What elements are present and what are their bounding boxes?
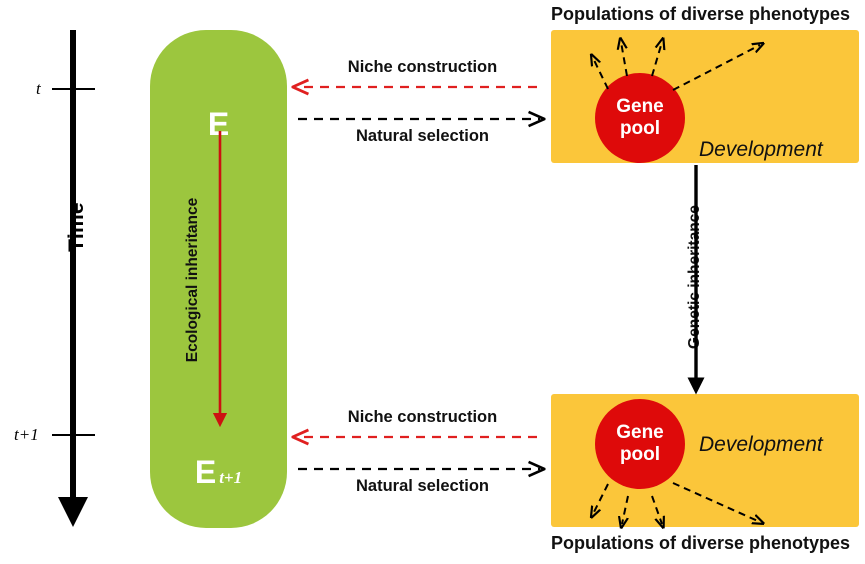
development-box-bottom: Genepool Development — [551, 394, 859, 527]
gene-pool-line2: pool — [620, 118, 660, 139]
time-axis: t t+1 Time — [0, 0, 140, 564]
natural-selection-label-top: Natural selection — [300, 127, 545, 146]
time-tick-label-t-plus-1: t+1 — [14, 425, 39, 445]
environment-symbol-t-plus-1: Et+1 — [150, 454, 287, 491]
time-axis-label: Time — [65, 162, 89, 292]
figure-canvas: t t+1 Time E Ecological inheritance Et+1… — [0, 0, 865, 564]
gene-pool-line1: Gene — [616, 96, 664, 117]
development-box-top: Genepool Development — [551, 30, 859, 163]
niche-construction-label-top: Niche construction — [300, 58, 545, 77]
natural-selection-label-bottom: Natural selection — [300, 477, 545, 496]
gene-pool-line1-b: Gene — [616, 422, 664, 443]
populations-caption-bottom: Populations of diverse phenotypes — [551, 533, 865, 554]
ecological-inheritance-label: Ecological inheritance — [184, 190, 202, 370]
time-tick-label-t: t — [36, 79, 41, 99]
gene-pool-label-bottom: Genepool — [616, 422, 664, 466]
gene-pool-circle-top: Genepool — [595, 73, 685, 163]
niche-construction-label-bottom: Niche construction — [300, 408, 545, 427]
populations-caption-top: Populations of diverse phenotypes — [551, 4, 865, 25]
environment-box: E Ecological inheritance Et+1 — [150, 30, 287, 528]
gene-pool-line2-b: pool — [620, 444, 660, 465]
gene-pool-label-top: Genepool — [616, 96, 664, 140]
environment-symbol-letter: E — [195, 454, 216, 490]
genetic-inheritance-label: Genetic inheritance — [686, 177, 704, 377]
development-label-top: Development — [699, 138, 823, 162]
development-label-bottom: Development — [699, 433, 823, 457]
environment-symbol-t: E — [150, 106, 287, 143]
gene-pool-circle-bottom: Genepool — [595, 399, 685, 489]
environment-symbol-subscript: t+1 — [216, 468, 242, 487]
